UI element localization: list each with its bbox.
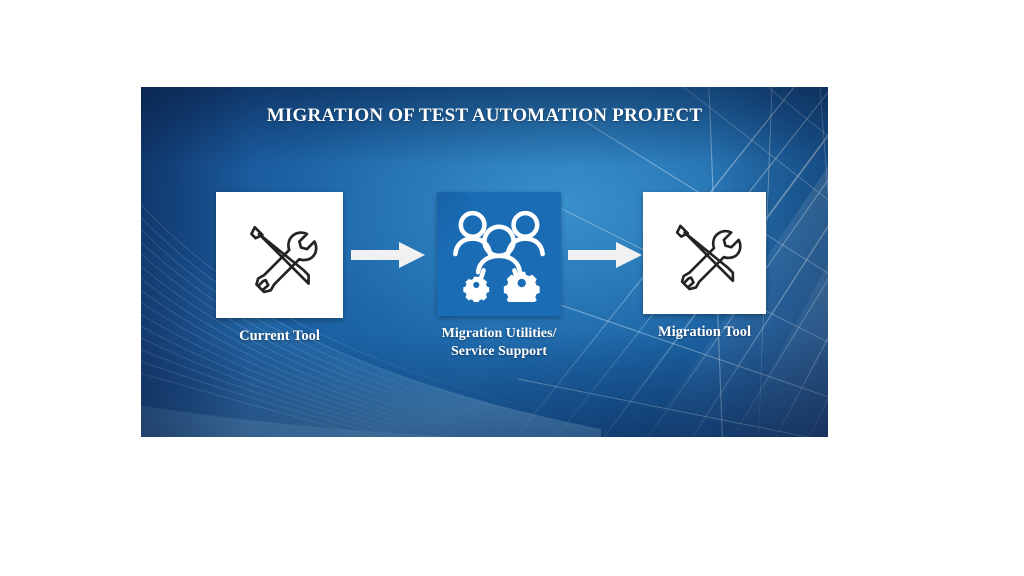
migration-tool-tile[interactable] xyxy=(643,192,766,314)
current-tool-tile[interactable] xyxy=(216,192,343,318)
flow-node-label: Migration Tool xyxy=(643,323,766,342)
tools-wrench-screwdriver-icon xyxy=(238,213,322,297)
arrow-right-icon xyxy=(351,240,425,270)
tools-wrench-screwdriver-icon xyxy=(664,212,746,294)
flow-node-label: Current Tool xyxy=(216,327,343,346)
slide-canvas: MIGRATION OF TEST AUTOMATION PROJECT xyxy=(0,0,1024,576)
page-title: MIGRATION OF TEST AUTOMATION PROJECT xyxy=(141,105,828,127)
people-gears-icon xyxy=(449,206,549,302)
diagram-panel: MIGRATION OF TEST AUTOMATION PROJECT xyxy=(141,87,828,437)
flow-diagram: Current Tool xyxy=(201,192,768,412)
flow-node-current-tool[interactable]: Current Tool xyxy=(216,192,343,346)
flow-node-migration-utilities[interactable]: Migration Utilities/ Service Support xyxy=(437,192,561,361)
arrow-right-icon xyxy=(568,240,642,270)
flow-node-label-line-2: Service Support xyxy=(437,343,561,361)
flow-node-label-line-1: Migration Utilities/ xyxy=(437,325,561,343)
migration-utilities-tile[interactable] xyxy=(437,192,561,316)
flow-node-migration-tool[interactable]: Migration Tool xyxy=(643,192,766,342)
flow-node-label: Migration Utilities/ Service Support xyxy=(437,325,561,361)
